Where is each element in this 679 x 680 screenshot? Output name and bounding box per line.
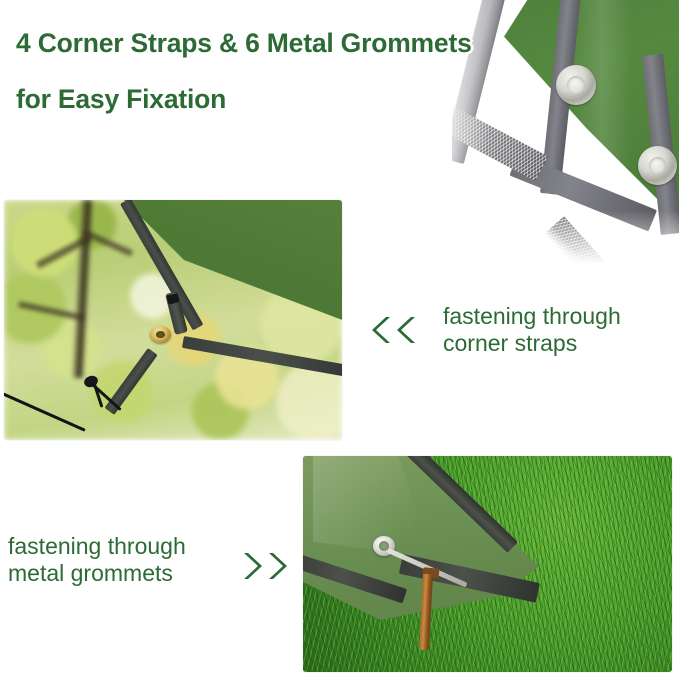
metal-grommet-icon	[556, 65, 596, 105]
callout-corner-straps: fastening through corner straps	[443, 303, 675, 357]
callout-metal-grommets-line-1: fastening through	[8, 533, 238, 560]
webbing-strap-left	[452, 101, 548, 181]
callout-corner-straps-line-2: corner straps	[443, 330, 675, 357]
photo-grommets-corner-scene	[452, 0, 679, 264]
webbing-strap-bottom	[544, 216, 631, 264]
metal-grommet-icon	[638, 146, 677, 185]
double-chevron-left-icon	[366, 316, 415, 344]
photo-corner-strap	[4, 200, 342, 440]
callout-metal-grommets: fastening through metal grommets	[8, 533, 238, 587]
photo-grommet-stake	[303, 456, 672, 672]
callout-corner-straps-line-1: fastening through	[443, 303, 675, 330]
double-chevron-right-icon	[240, 552, 289, 580]
metal-grommet-icon	[150, 326, 171, 343]
photo-grommets-corner	[452, 0, 679, 264]
callout-metal-grommets-line-2: metal grommets	[8, 560, 238, 587]
infographic-canvas: 4 Corner Straps & 6 Metal Grommets for E…	[0, 0, 679, 680]
